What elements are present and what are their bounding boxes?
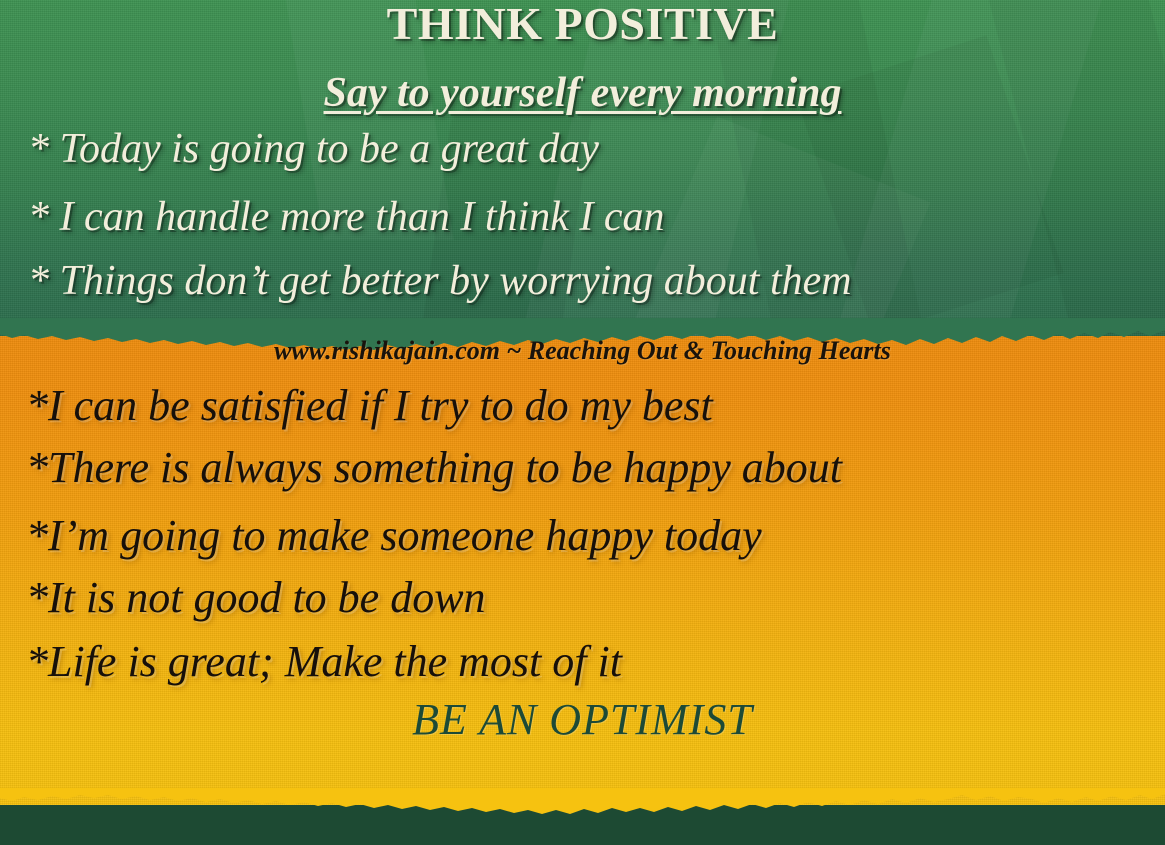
affirmation-green-2: * I can handle more than I think I can <box>28 196 664 238</box>
affirmation-orange-3: *I’m going to make someone happy today <box>26 514 762 558</box>
affirmation-orange-4: *It is not good to be down <box>26 576 486 620</box>
affirmation-green-1: * Today is going to be a great day <box>28 128 599 170</box>
motivational-poster: THINK POSITIVE Say to yourself every mor… <box>0 0 1165 845</box>
poster-text-layer: THINK POSITIVE Say to yourself every mor… <box>0 0 1165 845</box>
affirmation-orange-2: *There is always something to be happy a… <box>26 446 842 490</box>
closing-statement: BE AN OPTIMIST <box>0 698 1165 742</box>
affirmation-orange-1: *I can be satisfied if I try to do my be… <box>26 384 713 428</box>
poster-subtitle: Say to yourself every morning <box>0 72 1165 114</box>
affirmation-green-3: * Things don’t get better by worrying ab… <box>28 260 852 302</box>
page-title: THINK POSITIVE <box>0 1 1165 47</box>
website-credit-watermark: www.rishikajain.com ~ Reaching Out & Tou… <box>0 338 1165 364</box>
affirmation-orange-5: *Life is great; Make the most of it <box>26 640 622 684</box>
